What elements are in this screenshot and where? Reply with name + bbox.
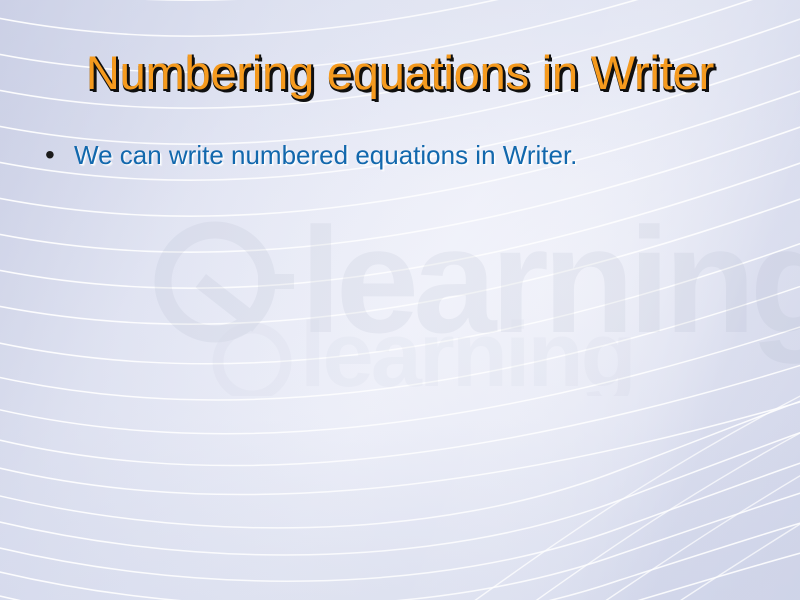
slide-body: • We can write numbered equations in Wri… — [40, 138, 760, 172]
bullet-text: We can write numbered equations in Write… — [74, 138, 760, 172]
slide-title: Numbering equations in Writer — [0, 44, 800, 102]
bullet-marker-icon: • — [40, 138, 74, 172]
list-item: • We can write numbered equations in Wri… — [40, 138, 760, 172]
presentation-slide: learning learning Numbering equations in… — [0, 0, 800, 600]
